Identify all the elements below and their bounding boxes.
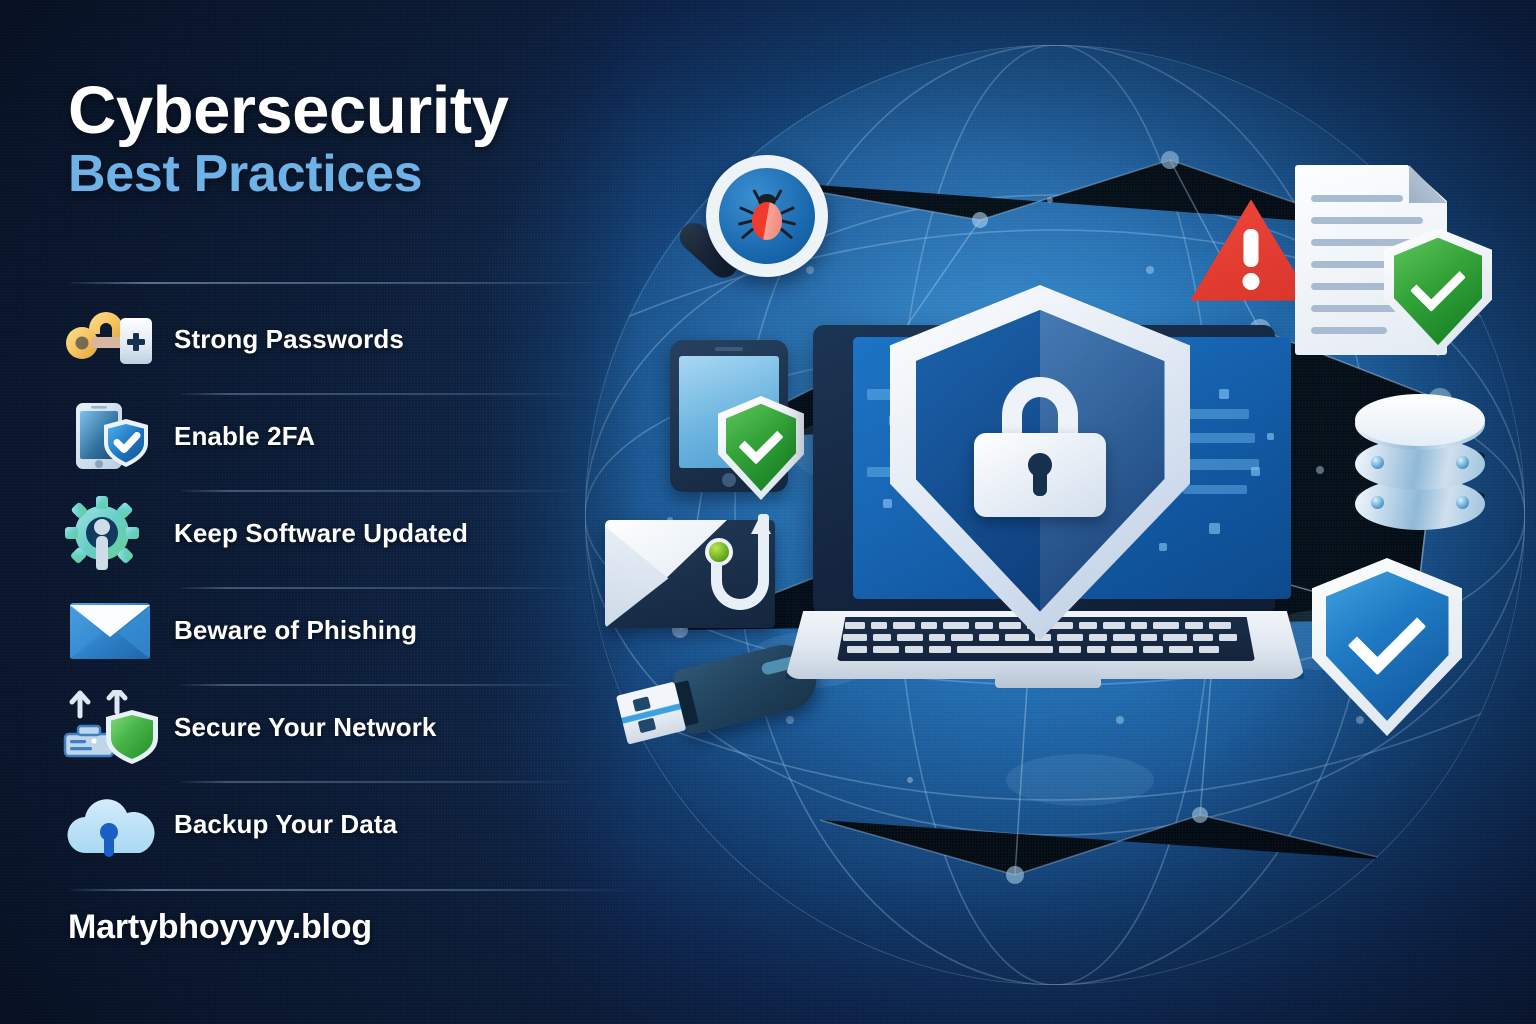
gear-person-icon [62, 496, 166, 570]
list-item[interactable]: Keep Software Updated [62, 494, 622, 591]
list-item-label: Beware of Phishing [174, 615, 417, 646]
router-shield-icon [62, 690, 166, 764]
list-item[interactable]: Secure Your Network [62, 688, 622, 785]
list-divider [180, 684, 580, 686]
title-divider [70, 282, 600, 284]
list-item-label: Enable 2FA [174, 421, 315, 452]
laptop-trackpad [995, 666, 1101, 688]
list-divider [180, 781, 580, 783]
magnifier-lens [706, 155, 828, 277]
list-item[interactable]: Beware of Phishing [62, 591, 622, 688]
envelope-icon [62, 593, 166, 667]
illustration-stage [560, 0, 1536, 1024]
fishing-hook-icon [705, 514, 777, 622]
padlock-icon [974, 377, 1106, 517]
list-item-label: Strong Passwords [174, 324, 404, 355]
list-item[interactable]: Enable 2FA [62, 397, 622, 494]
list-item-label: Keep Software Updated [174, 518, 468, 549]
cloud-upload-icon [62, 787, 166, 861]
title-line-1: Cybersecurity [68, 78, 668, 144]
mobile-secured-icon [670, 340, 788, 492]
document-verified-badge-icon [1384, 228, 1492, 356]
database-icon [1355, 398, 1485, 530]
list-divider [180, 587, 580, 589]
best-practices-list: Strong Passwords [62, 300, 622, 882]
key-card-icon [62, 302, 166, 376]
footer-divider [70, 889, 630, 891]
left-panel: Cybersecurity Best Practices [0, 0, 640, 1024]
list-item-label: Backup Your Data [174, 809, 397, 840]
protection-badge-icon [1312, 558, 1462, 736]
padlock-body [974, 433, 1106, 517]
list-divider [180, 393, 580, 395]
phone-speaker [715, 347, 743, 351]
list-item-label: Secure Your Network [174, 712, 436, 743]
magnifier-bug-icon [660, 155, 840, 315]
list-item[interactable]: Backup Your Data [62, 785, 622, 882]
poster-canvas: Cybersecurity Best Practices [0, 0, 1536, 1024]
list-divider [180, 490, 580, 492]
bug-body [752, 202, 782, 240]
bug-icon [741, 193, 793, 243]
list-item[interactable]: Strong Passwords [62, 300, 622, 397]
title-line-2: Best Practices [68, 148, 668, 200]
padlock-keyhole [1028, 453, 1052, 477]
phone-shield-check-icon [62, 399, 166, 473]
hook-bait [705, 538, 733, 566]
page-title: Cybersecurity Best Practices [68, 78, 668, 200]
warning-triangle-icon [1190, 195, 1312, 305]
shield-padlock-icon [890, 285, 1190, 640]
site-url[interactable]: Martybhoyyyy.blog [68, 908, 372, 947]
